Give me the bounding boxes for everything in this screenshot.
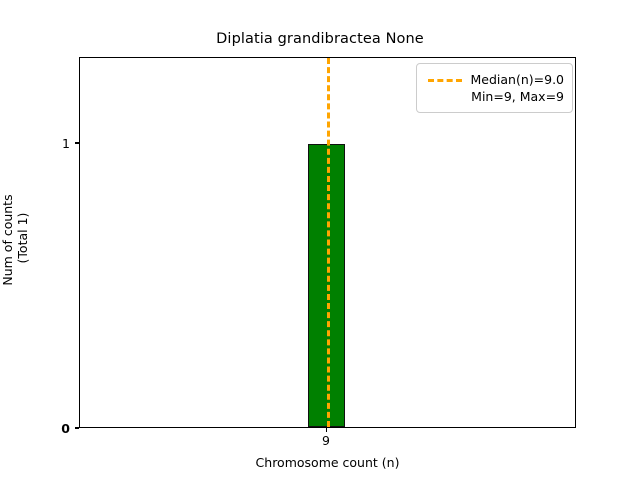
x-axis-label: Chromosome count (n) <box>79 455 576 470</box>
legend-label-minmax: Min=9, Max=9 <box>425 88 564 105</box>
median-line <box>327 58 330 427</box>
legend-label-median: Median(n)=9.0 <box>471 71 565 88</box>
plot-area: Median(n)=9.0 Min=9, Max=9 <box>79 57 576 428</box>
legend-entry-median: Median(n)=9.0 <box>425 71 564 88</box>
chart-figure: Diplatia grandibractea None Num of count… <box>0 0 640 480</box>
legend-dashed-line-icon <box>428 74 462 86</box>
x-tick-label-9: 9 <box>306 433 346 448</box>
y-axis-label-wrapper: Num of counts (Total 1) <box>0 0 40 480</box>
y-tick-label-0: 0 <box>39 421 70 436</box>
y-axis-label: Num of counts (Total 1) <box>0 0 30 480</box>
chart-title: Diplatia grandibractea None <box>0 31 640 47</box>
y-tick-label-1: 1 <box>39 136 70 151</box>
legend: Median(n)=9.0 Min=9, Max=9 <box>416 63 573 113</box>
x-tick-mark-9 <box>326 427 327 431</box>
